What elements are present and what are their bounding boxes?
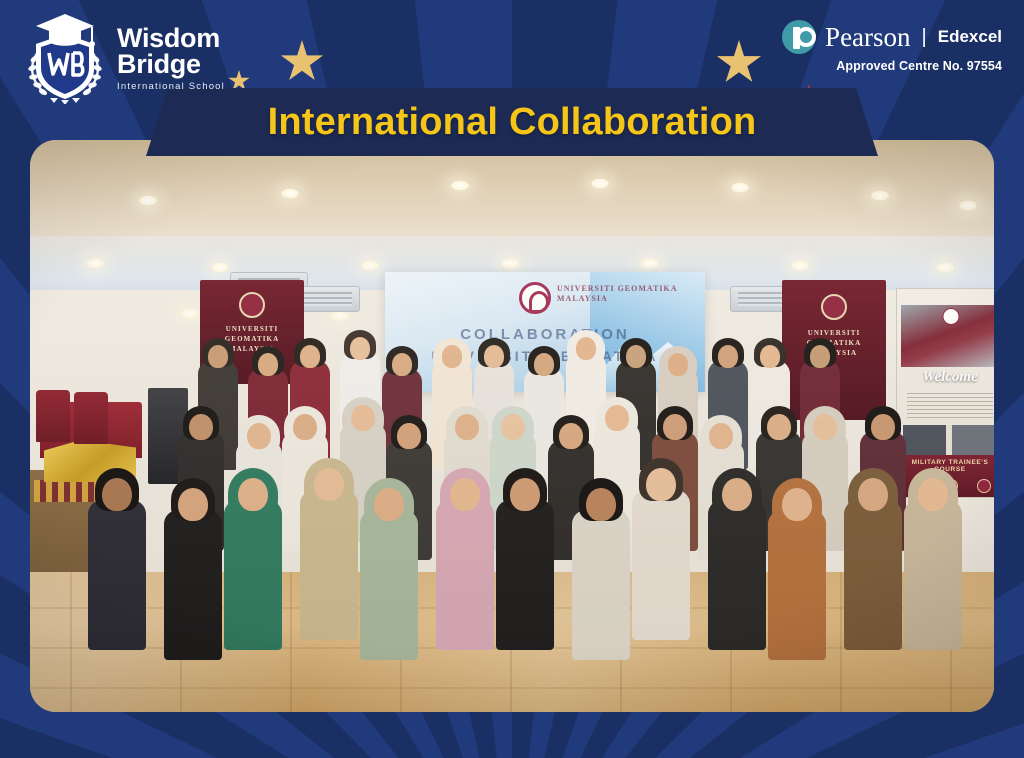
event-group-photo: UNIVERSITI GEOMATIKA MALAYSIA COLLABORAT…: [30, 140, 994, 712]
person-face: [238, 478, 268, 511]
person-face: [918, 478, 948, 511]
pearson-edexcel-logo: Pearson | Edexcel Approved Centre No. 97…: [782, 20, 1002, 73]
person-face: [350, 337, 370, 360]
logo-line-1: Wisdom: [117, 25, 225, 51]
person-face: [760, 345, 780, 368]
downlight-icon: [180, 308, 200, 319]
person-face: [510, 478, 540, 511]
person-face: [455, 414, 478, 440]
screen-logo-text: UNIVERSITI GEOMATIKA MALAYSIA: [557, 284, 705, 304]
person-torso: [496, 500, 554, 650]
rollup-headline: Welcome: [897, 369, 994, 386]
person-face: [576, 337, 596, 360]
rollup-about-text: [907, 393, 993, 419]
person-face: [293, 414, 316, 440]
geomatika-seal-icon-left: [239, 292, 265, 318]
geomatika-seal-icon-rollup: [943, 308, 960, 325]
person-face: [450, 478, 480, 511]
person-torso: [904, 500, 962, 650]
downlight-icon: [730, 182, 750, 193]
downlight-icon: [138, 195, 158, 206]
floor-plank: [290, 572, 292, 712]
person: [360, 480, 418, 668]
person-face: [314, 468, 344, 501]
person-face: [102, 478, 132, 511]
person-face: [442, 345, 462, 368]
person-face: [208, 345, 228, 368]
chair: [74, 392, 108, 444]
logo-line-2: Bridge: [117, 51, 225, 77]
person-face: [247, 423, 270, 449]
downlight-icon: [640, 258, 660, 269]
edexcel-wordmark: Edexcel: [938, 27, 1002, 47]
pearson-p-interrobang-icon: [782, 20, 816, 54]
floor-plank: [840, 572, 842, 712]
downlight-icon: [280, 188, 300, 199]
person-face: [718, 345, 738, 368]
approved-centre-number: Approved Centre No. 97554: [782, 59, 1002, 73]
person-face: [534, 353, 554, 376]
left-banner-line-1: UNIVERSITI: [226, 325, 279, 333]
person-torso: [632, 490, 690, 640]
person: [88, 470, 146, 658]
person-face: [871, 414, 894, 440]
person-face: [663, 414, 686, 440]
person-face: [484, 345, 504, 368]
person: [300, 460, 358, 648]
person: [708, 470, 766, 658]
person-face: [392, 353, 412, 376]
person-face: [605, 405, 628, 431]
person-face: [767, 414, 790, 440]
page-title: International Collaboration: [268, 101, 757, 144]
person-face: [178, 488, 208, 521]
person-face: [810, 345, 830, 368]
chair: [36, 390, 70, 442]
person-face: [782, 488, 812, 521]
person: [164, 480, 222, 668]
campus-building-photo: [901, 305, 994, 367]
person-face: [722, 478, 752, 511]
downlight-icon: [500, 258, 520, 269]
person: [844, 470, 902, 658]
person-face: [668, 353, 688, 376]
welcome-rollup-banner: Welcome MILITARY TRAINEE'S COURSE: [896, 288, 994, 498]
right-banner-line-1: UNIVERSITI: [808, 329, 861, 337]
person-torso: [360, 510, 418, 660]
downlight-icon: [870, 190, 890, 201]
person: [632, 460, 690, 648]
downlight-icon: [360, 260, 380, 271]
person-face: [397, 423, 420, 449]
floor-plank: [70, 572, 72, 712]
geomatika-seal-icon: [519, 282, 551, 314]
downlight-icon: [210, 262, 230, 273]
person: [572, 480, 630, 668]
title-banner: International Collaboration: [146, 88, 878, 156]
person-face: [858, 478, 888, 511]
pearson-separator: |: [922, 26, 927, 49]
person-face: [258, 353, 278, 376]
logo-tagline: International School: [117, 82, 225, 91]
downlight-icon: [958, 200, 978, 211]
person-face: [189, 414, 212, 440]
person-face: [501, 414, 524, 440]
person-torso: [164, 510, 222, 660]
person-face: [626, 345, 646, 368]
person-face: [559, 423, 582, 449]
person-torso: [768, 510, 826, 660]
person-torso: [572, 510, 630, 660]
shield-graduation-cap-laurel-icon: [22, 12, 108, 104]
person-torso: [708, 500, 766, 650]
person-face: [813, 414, 836, 440]
downlight-icon: [590, 178, 610, 189]
person-torso: [300, 490, 358, 640]
person-torso: [436, 500, 494, 650]
person-face: [586, 488, 616, 521]
downlight-icon: [85, 258, 105, 269]
floor-seam: [30, 687, 994, 689]
person: [224, 470, 282, 658]
person-face: [646, 468, 676, 501]
person: [496, 470, 554, 658]
person: [436, 470, 494, 658]
downlight-icon: [935, 262, 955, 273]
geomatika-seal-icon-right: [821, 294, 847, 320]
person-torso: [844, 500, 902, 650]
person-face: [300, 345, 320, 368]
pearson-wordmark: Pearson: [825, 24, 910, 51]
person: [768, 480, 826, 668]
person: [904, 470, 962, 658]
person-face: [351, 405, 374, 431]
wisdom-bridge-logo: Wisdom Bridge International School: [22, 12, 225, 104]
person-face: [709, 423, 732, 449]
downlight-icon: [790, 260, 810, 271]
downlight-icon: [450, 180, 470, 191]
person-torso: [224, 500, 282, 650]
person-torso: [88, 500, 146, 650]
person-face: [374, 488, 404, 521]
